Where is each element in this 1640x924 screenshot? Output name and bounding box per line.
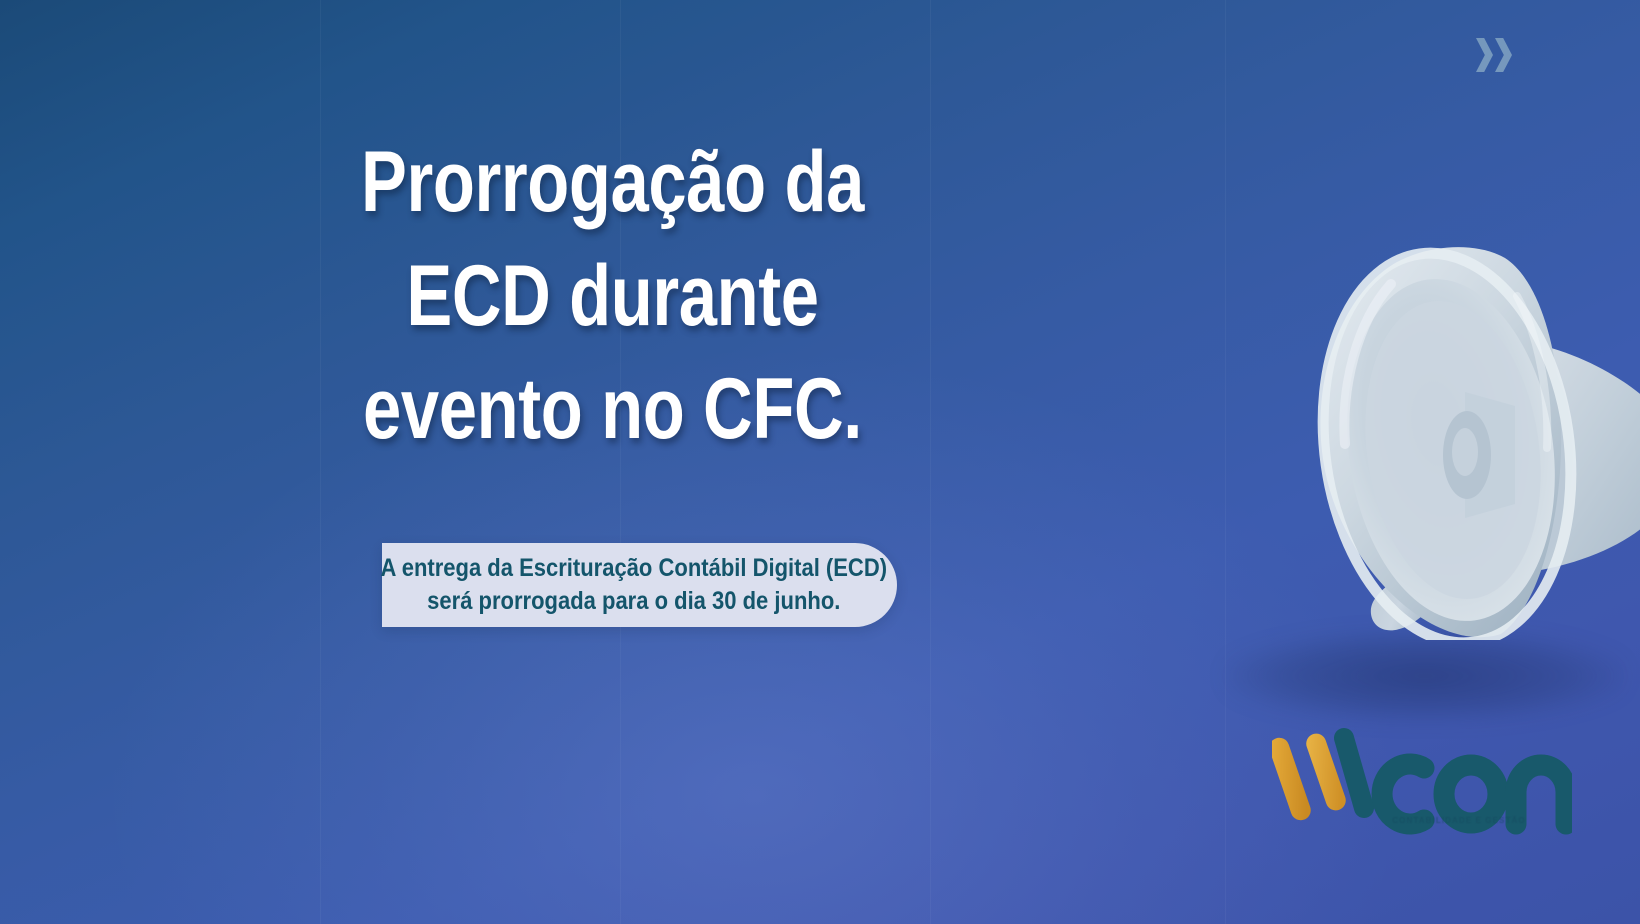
megaphone-illustration <box>1215 200 1640 640</box>
subtitle-line-1: A entrega da Escrituração Contábil Digit… <box>380 552 886 586</box>
double-chevron-right-icon <box>1476 38 1512 72</box>
megaphone-shadow <box>1225 630 1625 722</box>
logo-letter-o <box>1444 765 1498 823</box>
headline-line-3: evento no CFC. <box>123 353 1103 467</box>
brand-logo: CONTABILIDADE E GESTÃO <box>1272 716 1572 846</box>
headline-line-2: ECD durante <box>123 240 1103 354</box>
subtitle-line-2: será prorrogada para o dia 30 de junho. <box>380 585 886 619</box>
chevron-right-icon <box>1476 38 1493 72</box>
logo-mark-stroke <box>1272 735 1313 823</box>
chevron-right-icon <box>1495 38 1512 72</box>
logo-v-arm <box>1344 738 1364 808</box>
megaphone-driver-center <box>1452 428 1478 476</box>
subtitle-callout: A entrega da Escrituração Contábil Digit… <box>382 543 897 627</box>
slide-canvas: Prorrogação da ECD durante evento no CFC… <box>0 0 1640 924</box>
logo-tagline: CONTABILIDADE E GESTÃO <box>1346 816 1572 825</box>
headline-line-1: Prorrogação da <box>123 126 1103 240</box>
megaphone-icon <box>1215 200 1640 640</box>
logo-letter-c <box>1382 764 1424 824</box>
subtitle-text: A entrega da Escrituração Contábil Digit… <box>380 552 886 619</box>
vcon-logo-icon <box>1272 716 1572 846</box>
headline: Prorrogação da ECD durante evento no CFC… <box>123 126 1103 467</box>
